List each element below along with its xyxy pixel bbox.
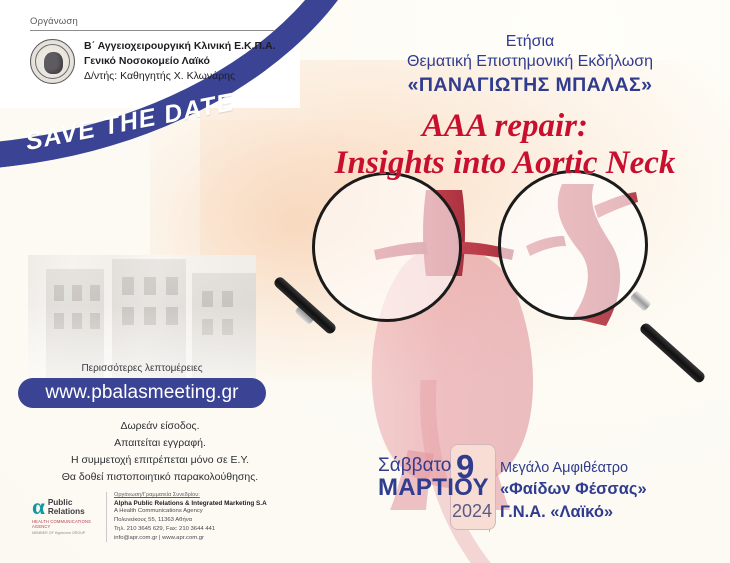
header-line-3: «ΠΑΝΑΓΙΩΤΗΣ ΜΠΑΛΑΣ»	[330, 74, 730, 97]
title-line-2: Insights into Aortic Neck	[280, 145, 730, 182]
header-line-1: Ετήσια	[330, 32, 730, 52]
secretariat-line-4: info@apr.com.gr | www.apr.com.gr	[114, 534, 267, 543]
photo-caption: Περισσότερες λεπτομέρειες	[28, 363, 256, 374]
page-title: AAA repair: Insights into Aortic Neck	[280, 108, 730, 182]
conference-poster: SAVE THE DATE Οργάνωση Β΄ Αγγειοχειρουργ…	[0, 0, 730, 563]
event-header: Ετήσια Θεματική Επιστημονική Εκδήλωση «Π…	[330, 32, 730, 97]
website-url-button[interactable]: www.pbalasmeeting.gr	[18, 378, 266, 408]
note-line-3: Η συμμετοχή επιτρέπεται μόνο σε Ε.Υ.	[20, 452, 300, 469]
alpha-mark-icon: α	[32, 498, 45, 516]
logo-name-relations: Relations	[48, 507, 85, 516]
event-year: 2024	[452, 502, 492, 520]
secretariat-block: α Public Relations HEALTH COMMUNICATIONS…	[32, 492, 292, 542]
lens-angulated-neck	[498, 170, 648, 320]
secretariat-label: Οργάνωση/Γραμματεία Συνεδρίου:	[114, 492, 267, 498]
secretariat-company: Alpha Public Relations & Integrated Mark…	[114, 500, 267, 507]
venue-line-3: Γ.Ν.Α. «Λαϊκό»	[500, 501, 647, 523]
venue-line-1: Μεγάλο Αμφιθέατρο	[500, 459, 647, 478]
organizer-block: Οργάνωση Β΄ Αγγειοχειρουργική Κλινική Ε.…	[30, 16, 280, 84]
note-line-4: Θα δοθεί πιστοποιητικό παρακολούθησης.	[20, 469, 300, 486]
event-venue: Μεγάλο Αμφιθέατρο «Φαίδων Φέσσας» Γ.Ν.Α.…	[500, 459, 647, 523]
logo-name-public: Public	[48, 498, 85, 507]
organizer-hospital: Γενικό Νοσοκομείο Λαϊκό	[84, 54, 276, 69]
organizer-director: Δ/ντής: Καθηγητής Χ. Κλωνάρης	[84, 69, 276, 84]
venue-line-2: «Φαίδων Φέσσας»	[500, 478, 647, 500]
university-seal-icon	[30, 39, 75, 84]
alpha-public-relations-logo: α Public Relations HEALTH COMMUNICATIONS…	[32, 492, 98, 542]
secretariat-line-1: A Health Communications Agency	[114, 507, 267, 516]
event-date-block: Σάββατο ΜΑΡΤΙΟΥ 9 2024	[378, 456, 489, 500]
organizer-label: Οργάνωση	[30, 16, 280, 27]
header-line-2: Θεματική Επιστημονική Εκδήλωση	[330, 52, 730, 72]
secretariat-line-2: Πολυνείκους 55, 11363 Αθήνα	[114, 516, 267, 525]
secretariat-line-3: Τηλ. 210 3645 629, Fax: 210 3644 441	[114, 525, 267, 534]
organizer-clinic: Β΄ Αγγειοχειρουργική Κλινική Ε.Κ.Π.Α.	[84, 39, 276, 54]
title-line-1: AAA repair:	[280, 108, 730, 145]
lens-proximal-neck	[312, 172, 462, 322]
logo-subtagline: MEMBER OF Hypercom GROUP	[32, 531, 98, 535]
organizer-divider	[30, 30, 275, 31]
note-line-1: Δωρεάν είσοδος.	[20, 418, 300, 435]
event-day: 9	[456, 450, 474, 483]
note-line-2: Απαιτείται εγγραφή.	[20, 435, 300, 452]
attendance-notes: Δωρεάν είσοδος. Απαιτείται εγγραφή. Η συ…	[20, 418, 300, 486]
logo-tagline: HEALTH COMMUNICATIONS AGENCY	[32, 519, 98, 529]
